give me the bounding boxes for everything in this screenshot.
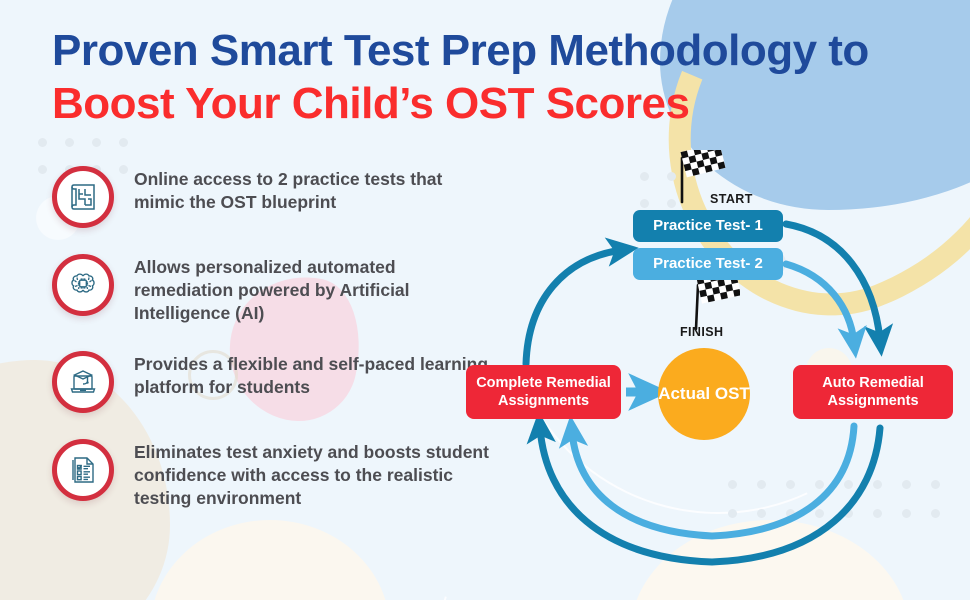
laptop-graduation-cap-icon [52, 351, 114, 413]
ai-brain-chip-icon [52, 254, 114, 316]
arc-complete-to-pt2 [526, 250, 622, 364]
node-complete-remedial-assignments[interactable]: Complete Remedial Assignments [466, 365, 621, 419]
infographic-canvas: Proven Smart Test Prep Methodology to Bo… [0, 0, 970, 600]
feature-list: Online access to 2 practice tests that m… [52, 166, 492, 537]
node-auto-remedial-assignments[interactable]: Auto Remedial Assignments [793, 365, 953, 419]
feature-label: Provides a flexible and self-paced learn… [134, 351, 492, 399]
feature-item: Allows personalized automated remediatio… [52, 254, 492, 325]
node-practice-test-2[interactable]: Practice Test- 2 [633, 248, 783, 280]
blueprint-icon [52, 166, 114, 228]
page-title: Proven Smart Test Prep Methodology to Bo… [52, 28, 932, 127]
arc-auto-to-complete-inner [572, 426, 854, 536]
finish-label: FINISH [680, 325, 723, 339]
arc-pt2-to-auto [786, 264, 854, 342]
feature-label: Allows personalized automated remediatio… [134, 254, 492, 325]
title-line-1: Proven Smart Test Prep Methodology to [52, 28, 932, 75]
node-actual-ost[interactable]: Actual OST [658, 348, 750, 440]
feature-label: Online access to 2 practice tests that m… [134, 166, 492, 214]
arc-pt1-to-auto [786, 224, 880, 340]
checklist-document-icon [52, 439, 114, 501]
cycle-diagram: START FINISH Practice Test- 1 Practice T [450, 150, 970, 590]
feature-item: Provides a flexible and self-paced learn… [52, 351, 492, 413]
feature-label: Eliminates test anxiety and boosts stude… [134, 439, 492, 510]
start-label: START [710, 192, 753, 206]
feature-item: Eliminates test anxiety and boosts stude… [52, 439, 492, 510]
title-line-2: Boost Your Child’s OST Scores [52, 81, 932, 128]
feature-item: Online access to 2 practice tests that m… [52, 166, 492, 228]
node-practice-test-1[interactable]: Practice Test- 1 [633, 210, 783, 242]
